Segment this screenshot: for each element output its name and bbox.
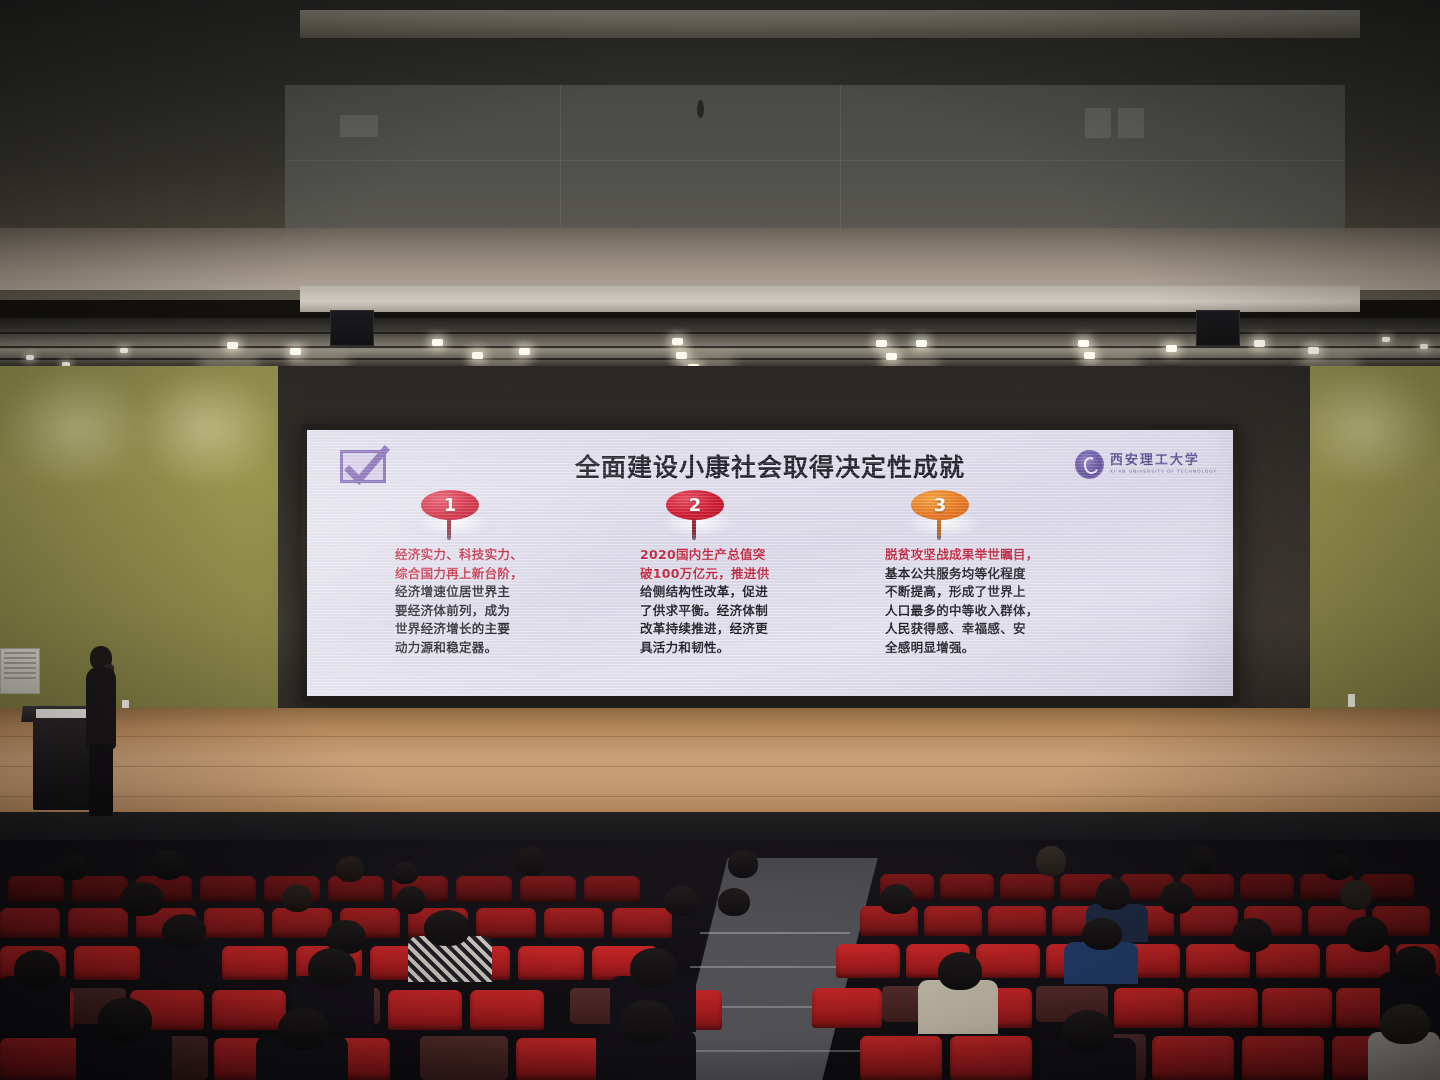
slide-column-3: 3 脱贫攻坚战成果举世瞩目， 基本公共服务均等化程度 不断提高，形成了世界上 人… [885, 488, 1100, 657]
text-line: 了供求平衡。经济体制 [640, 602, 840, 621]
presenter [84, 646, 118, 814]
audience-head [718, 888, 750, 916]
ceiling-panel-seam [560, 85, 561, 245]
audience-head [1346, 916, 1388, 952]
audience-head [516, 846, 546, 876]
seat [1242, 1036, 1324, 1080]
text-line: 脱贫攻坚战成果举世瞩目， [885, 546, 1100, 565]
column-text-3: 脱贫攻坚战成果举世瞩目， 基本公共服务均等化程度 不断提高，形成了世界上 人口最… [885, 546, 1100, 657]
text-line: 全感明显增强。 [885, 639, 1100, 658]
audience-head [60, 854, 88, 880]
text-line: 经济实力、科技实力、 [395, 546, 595, 565]
audience-head [620, 1000, 674, 1044]
stage-downlight [672, 338, 683, 345]
text-line: 综合国力再上新台阶， [395, 565, 595, 584]
stage-downlight [227, 342, 238, 349]
audience-head [396, 886, 426, 914]
text-line: 要经济体前列，成为 [395, 602, 595, 621]
presentation-slide[interactable]: 全面建设小康社会取得决定性成就 西安理工大学 XI'AN UNIVERSITY … [307, 430, 1233, 696]
stage-downlight [290, 348, 301, 355]
stage-downlight [519, 348, 530, 355]
seat [1188, 988, 1258, 1028]
seat [388, 990, 462, 1030]
seat [988, 906, 1046, 936]
badge-wrap-3: 3 [885, 488, 1100, 546]
university-emblem-icon [1075, 450, 1104, 479]
ceiling-speaker [330, 310, 374, 346]
seat [1152, 1036, 1234, 1080]
text-line: 给侧结构性改革，促进 [640, 583, 840, 602]
ceiling-panel-seam [840, 85, 841, 245]
seat [518, 946, 584, 980]
audience-head [1036, 846, 1066, 876]
slide-header: 全面建设小康社会取得决定性成就 西安理工大学 XI'AN UNIVERSITY … [307, 444, 1233, 488]
seat [1256, 944, 1320, 978]
projection-screen-bezel: 全面建设小康社会取得决定性成就 西安理工大学 XI'AN UNIVERSITY … [301, 424, 1239, 702]
audience-head [1232, 918, 1272, 952]
text-line: 人民获得感、幸福感、安 [885, 620, 1100, 639]
wall-light-glow [130, 368, 280, 488]
ceiling-panel-seam [285, 160, 1345, 161]
number-badge-1: 1 [421, 490, 479, 520]
wall-switch[interactable] [1348, 694, 1355, 707]
audience-head [98, 998, 152, 1042]
ceiling-vent [1085, 108, 1111, 138]
audience-head [424, 910, 470, 946]
audience-head [664, 886, 698, 916]
column-text-1: 经济实力、科技实力、 综合国力再上新台阶， 经济增速位居世界主 要经济体前列，成… [395, 546, 595, 657]
ceiling-speaker [1196, 310, 1240, 346]
seat [0, 1038, 84, 1080]
text-line: 世界经济增长的主要 [395, 620, 595, 639]
truss-rail [0, 346, 1440, 348]
audience-head [1188, 846, 1216, 874]
slide-column-1: 1 经济实力、科技实力、 综合国力再上新台阶， 经济增速位居世界主 要经济体前列… [395, 488, 595, 657]
seat [68, 908, 128, 938]
ceiling-vent [1118, 108, 1144, 138]
seat [74, 946, 140, 980]
text-line: 破100万亿元，推进供 [640, 565, 840, 584]
badge-wrap-1: 1 [395, 488, 595, 546]
text-line: 人口最多的中等收入群体， [885, 602, 1100, 621]
stage-downlight [26, 355, 34, 360]
audience-head [630, 948, 678, 988]
slide-column-2: 2 2020国内生产总值突 破100万亿元，推进供 给侧结构性改革，促进 了供求… [640, 488, 840, 657]
seat [0, 908, 60, 938]
seat [1240, 874, 1294, 900]
seat [200, 876, 256, 902]
audience-head [1380, 1004, 1430, 1044]
audience-head [1340, 880, 1372, 910]
seat [1000, 874, 1054, 900]
seat [520, 876, 576, 902]
text-line: 动力源和稳定器。 [395, 639, 595, 658]
text-line: 经济增速位居世界主 [395, 583, 595, 602]
ceiling-upper-band [0, 228, 1440, 290]
seat [1114, 988, 1184, 1028]
text-line: 不断提高，形成了世界上 [885, 583, 1100, 602]
stage-downlight [916, 340, 927, 347]
seat [812, 988, 882, 1028]
seat [516, 1038, 600, 1080]
audience-head [1392, 946, 1436, 984]
stage-downlight [432, 339, 443, 346]
seat [212, 990, 286, 1030]
aisle-step [690, 966, 855, 968]
university-logo: 西安理工大学 XI'AN UNIVERSITY OF TECHNOLOGY [1075, 450, 1217, 479]
seat [924, 906, 982, 936]
ceiling-vent [340, 115, 378, 137]
wall-light-glow [0, 368, 150, 488]
audience-head [336, 856, 364, 882]
wall-light-glow [1290, 368, 1440, 488]
audience-head [938, 952, 982, 990]
seat [272, 908, 332, 938]
university-name-en: XI'AN UNIVERSITY OF TECHNOLOGY [1110, 470, 1217, 475]
audience-head [1096, 878, 1130, 910]
seat [470, 990, 544, 1030]
stage-downlight [1166, 345, 1177, 352]
seat [940, 874, 994, 900]
seat-back [420, 1036, 508, 1080]
ceiling-soffit [300, 286, 1360, 312]
seat [544, 908, 604, 938]
text-line: 2020国内生产总值突 [640, 546, 840, 565]
seat [456, 876, 512, 902]
wall-vent-grille [0, 648, 40, 694]
seat [8, 876, 64, 902]
audience-head [728, 850, 758, 878]
column-text-2: 2020国内生产总值突 破100万亿元，推进供 给侧结构性改革，促进 了供求平衡… [640, 546, 840, 657]
seat [204, 908, 264, 938]
seat [612, 908, 672, 938]
stage-downlight [1078, 340, 1089, 347]
audience-head [152, 850, 184, 880]
seat [1262, 988, 1332, 1028]
stage-downlight [120, 348, 128, 353]
audience-head [1082, 918, 1122, 950]
university-name-cn: 西安理工大学 [1110, 454, 1217, 468]
stage-downlight [876, 340, 887, 347]
stage-downlight [1420, 344, 1428, 349]
audience-head [880, 884, 914, 914]
audience-seating [0, 840, 1440, 1080]
text-line: 改革持续推进，经济更 [640, 620, 840, 639]
presenter-legs [89, 744, 113, 816]
audience-head [120, 882, 164, 916]
audience-head [308, 948, 356, 988]
audience-head [278, 1008, 330, 1050]
seat [836, 944, 900, 978]
number-badge-2: 2 [666, 490, 724, 520]
audience-head [1062, 1010, 1114, 1052]
ceiling-panel [285, 85, 1345, 245]
badge-wrap-2: 2 [640, 488, 840, 546]
audience-head [14, 950, 60, 988]
truss-plate [300, 10, 1360, 38]
aisle-step [700, 932, 850, 934]
seat [950, 1036, 1032, 1080]
audience-head [162, 914, 206, 948]
presenter-body [86, 667, 116, 749]
stage-downlight [1308, 347, 1319, 354]
stage-downlight [1254, 340, 1265, 347]
seat [222, 946, 288, 980]
seat [976, 944, 1040, 978]
text-line: 具活力和韧性。 [640, 639, 840, 658]
audience-head [1324, 854, 1352, 880]
stage-floor [0, 708, 1440, 818]
audience-head [392, 862, 418, 884]
stage-downlight [1382, 337, 1390, 342]
text-line: 基本公共服务均等化程度 [885, 565, 1100, 584]
audience-head [1160, 882, 1194, 914]
seat [476, 908, 536, 938]
number-badge-3: 3 [911, 490, 969, 520]
audience-head [282, 884, 312, 912]
seat [584, 876, 640, 902]
auditorium-scene: 全面建设小康社会取得决定性成就 西安理工大学 XI'AN UNIVERSITY … [0, 0, 1440, 1080]
seat [860, 1036, 942, 1080]
ceiling-fixture [697, 100, 704, 118]
